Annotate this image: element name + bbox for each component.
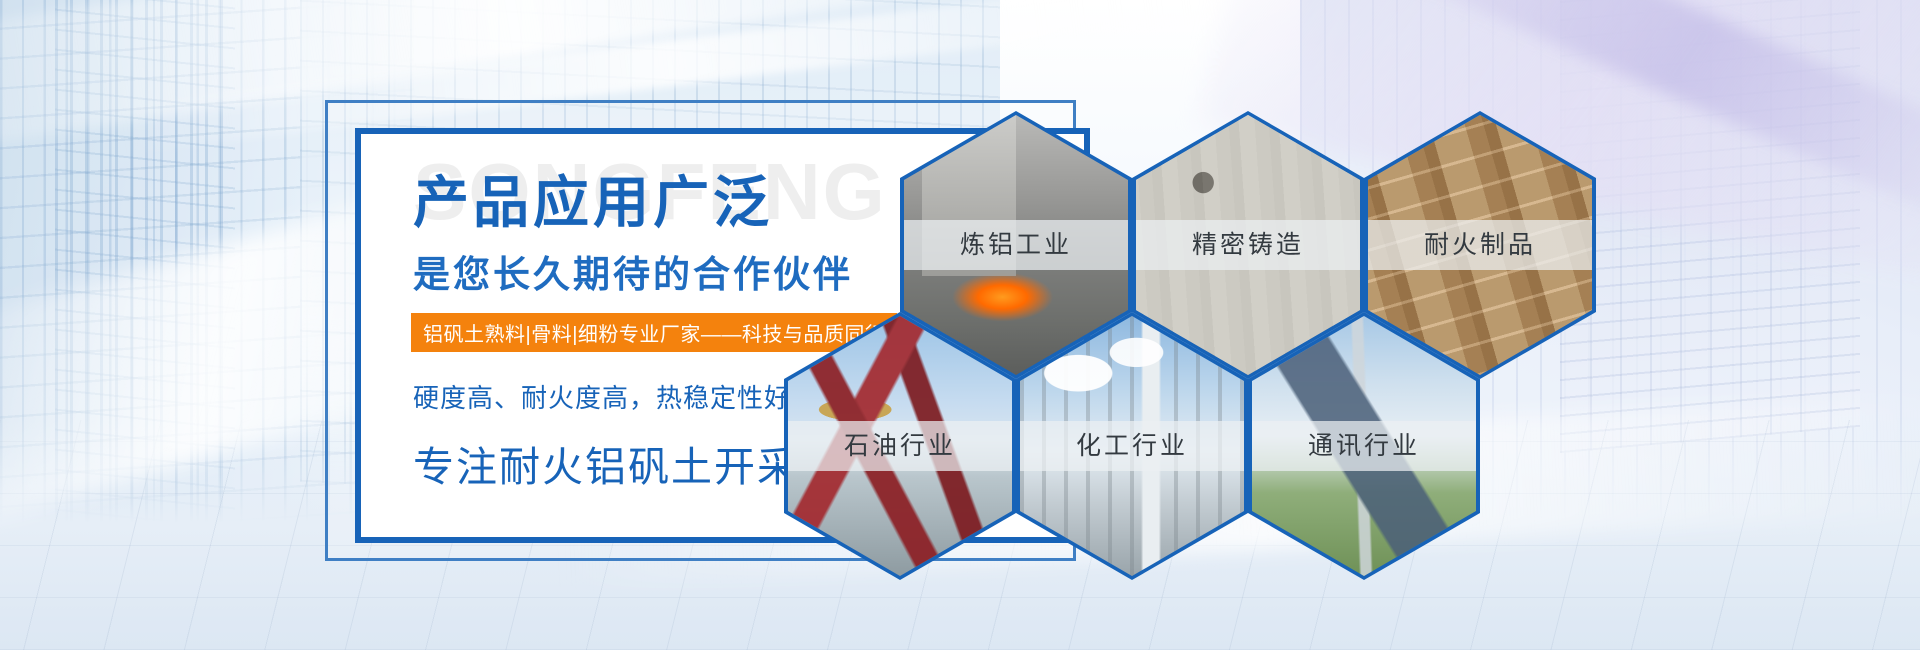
hex-label: 炼铝工业 [904, 220, 1128, 270]
page-title: 产品应用广泛 [413, 172, 773, 234]
hex-label: 精密铸造 [1136, 220, 1360, 270]
banner-stage: SONGFENG 产品应用广泛 是您长久期待的合作伙伴 铝矾土熟料|骨料|细粉专… [0, 0, 1920, 650]
hex-label: 石油行业 [788, 421, 1012, 471]
hex-label: 通讯行业 [1252, 421, 1476, 471]
tagline-badge: 铝矾土熟料|骨料|细粉专业厂家——科技与品质同行 [411, 313, 897, 352]
hex-label: 化工行业 [1020, 421, 1244, 471]
hex-label: 耐火制品 [1368, 220, 1592, 270]
industry-hexagon-grid: 炼铝工业 精密铸造 耐火制品 石油行业 化工行业 [830, 75, 1910, 635]
page-subtitle: 是您长久期待的合作伙伴 [413, 244, 853, 298]
